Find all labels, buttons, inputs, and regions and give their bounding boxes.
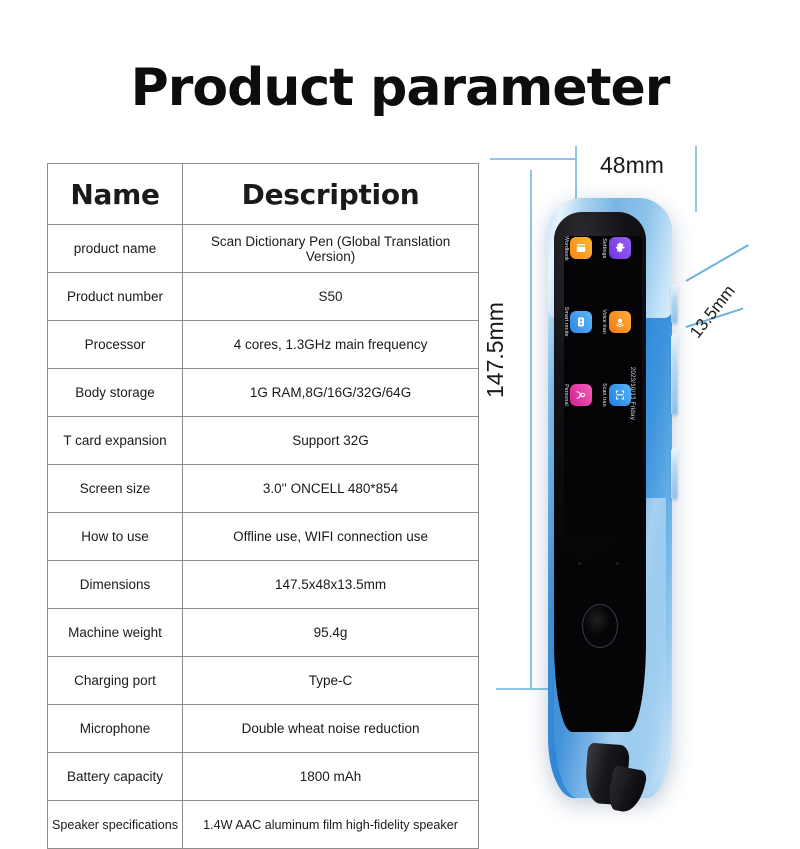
- dimension-guide-right: [695, 146, 697, 212]
- app-label: Wordbook: [564, 236, 569, 261]
- row-label: Charging port: [48, 657, 183, 705]
- app-smart-recite[interactable]: Smart recite: [564, 288, 593, 356]
- app-personal[interactable]: Personal: [564, 361, 593, 429]
- row-label: T card expansion: [48, 417, 183, 465]
- device-screen[interactable]: 10:47 54% 2023/10/13 Friday: [564, 236, 642, 536]
- row-label: How to use: [48, 513, 183, 561]
- cards-icon: [576, 316, 588, 328]
- table-row: Machine weight 95.4g: [48, 609, 479, 657]
- app-tile[interactable]: [571, 384, 593, 406]
- row-value: Scan Dictionary Pen (Global Translation …: [183, 225, 479, 273]
- app-label: Personal: [564, 384, 569, 406]
- row-value: S50: [183, 273, 479, 321]
- row-value: 1G RAM,8G/16G/32G/64G: [183, 369, 479, 417]
- dimension-label-width: 48mm: [600, 152, 664, 179]
- table-row: Charging port Type-C: [48, 657, 479, 705]
- row-label: product name: [48, 225, 183, 273]
- app-label: Settings: [602, 238, 608, 258]
- screen-app-grid: Dictionary Settings: [572, 236, 634, 435]
- row-label: Screen size: [48, 465, 183, 513]
- app-label: Voice tran: [602, 309, 608, 334]
- spec-table: Name Description product name Scan Dicti…: [47, 163, 479, 849]
- row-value: Type-C: [183, 657, 479, 705]
- row-value: 95.4g: [183, 609, 479, 657]
- side-button-power[interactable]: [671, 284, 678, 324]
- person-icon: [576, 389, 588, 401]
- spec-table-body: Name Description product name Scan Dicti…: [48, 164, 479, 849]
- app-wordbook[interactable]: Wordbook: [564, 236, 593, 283]
- column-header-description: Description: [183, 164, 479, 225]
- microphone-dot-left: [578, 562, 581, 565]
- table-row: Dimensions 147.5x48x13.5mm: [48, 561, 479, 609]
- app-grid-inner: Dictionary Settings: [564, 236, 634, 435]
- table-row: Body storage 1G RAM,8G/16G/32G/64G: [48, 369, 479, 417]
- app-tile[interactable]: [571, 237, 593, 259]
- row-label: Processor: [48, 321, 183, 369]
- table-row: Product number S50: [48, 273, 479, 321]
- app-settings[interactable]: Settings: [597, 236, 632, 283]
- table-header-row: Name Description: [48, 164, 479, 225]
- app-tile[interactable]: [571, 311, 593, 333]
- row-label: Body storage: [48, 369, 183, 417]
- row-label: Machine weight: [48, 609, 183, 657]
- translation-pen-device: 10:47 54% 2023/10/13 Friday: [548, 198, 684, 798]
- row-label: Microphone: [48, 705, 183, 753]
- table-row: Battery capacity 1800 mAh: [48, 753, 479, 801]
- dimension-label-height: 147.5mm: [482, 302, 509, 398]
- table-row: Processor 4 cores, 1.3GHz main frequency: [48, 321, 479, 369]
- side-button-volume[interactable]: [671, 448, 678, 500]
- row-label: Dimensions: [48, 561, 183, 609]
- side-button-scan[interactable]: [671, 334, 678, 416]
- home-button[interactable]: [582, 604, 618, 648]
- table-row: product name Scan Dictionary Pen (Global…: [48, 225, 479, 273]
- gear-icon: [614, 242, 626, 254]
- scan-frame-icon: [614, 389, 626, 401]
- scan-tip-edge: [606, 765, 647, 814]
- app-scan-tran[interactable]: Scan tran: [597, 361, 632, 429]
- row-value: 3.0'' ONCELL 480*854: [183, 465, 479, 513]
- column-header-name: Name: [48, 164, 183, 225]
- page-title: Product parameter: [0, 58, 800, 118]
- product-parameter-page: Product parameter Name Description produ…: [0, 0, 800, 800]
- dimension-leader-upper: [686, 244, 749, 281]
- row-value: 1.4W AAC aluminum film high-fidelity spe…: [183, 801, 479, 849]
- row-label: Product number: [48, 273, 183, 321]
- app-tile[interactable]: [609, 311, 631, 333]
- row-value: Double wheat noise reduction: [183, 705, 479, 753]
- row-value: 147.5x48x13.5mm: [183, 561, 479, 609]
- row-label: Battery capacity: [48, 753, 183, 801]
- dimension-guide-height: [530, 170, 532, 690]
- row-value: 4 cores, 1.3GHz main frequency: [183, 321, 479, 369]
- table-row: Speaker specifications 1.4W AAC aluminum…: [48, 801, 479, 849]
- speaker-icon: [614, 316, 626, 328]
- app-label: Smart recite: [564, 307, 569, 337]
- table-row: Screen size 3.0'' ONCELL 480*854: [48, 465, 479, 513]
- row-value: Offline use, WIFI connection use: [183, 513, 479, 561]
- table-row: Microphone Double wheat noise reduction: [48, 705, 479, 753]
- row-label: Speaker specifications: [48, 801, 183, 849]
- table-row: How to use Offline use, WIFI connection …: [48, 513, 479, 561]
- table-row: T card expansion Support 32G: [48, 417, 479, 465]
- book-icon: [576, 242, 588, 254]
- microphone-dot-right: [616, 562, 619, 565]
- product-photo: 48mm 147.5mm 13.5mm: [490, 140, 800, 800]
- app-label: Scan tran: [602, 383, 608, 407]
- app-tile[interactable]: [609, 384, 631, 406]
- app-voice-tran[interactable]: Voice tran: [597, 288, 632, 356]
- row-value: 1800 mAh: [183, 753, 479, 801]
- pen-front-face: 10:47 54% 2023/10/13 Friday: [554, 212, 646, 732]
- row-value: Support 32G: [183, 417, 479, 465]
- dimension-tick-top-left: [490, 158, 576, 160]
- app-tile[interactable]: [609, 237, 631, 259]
